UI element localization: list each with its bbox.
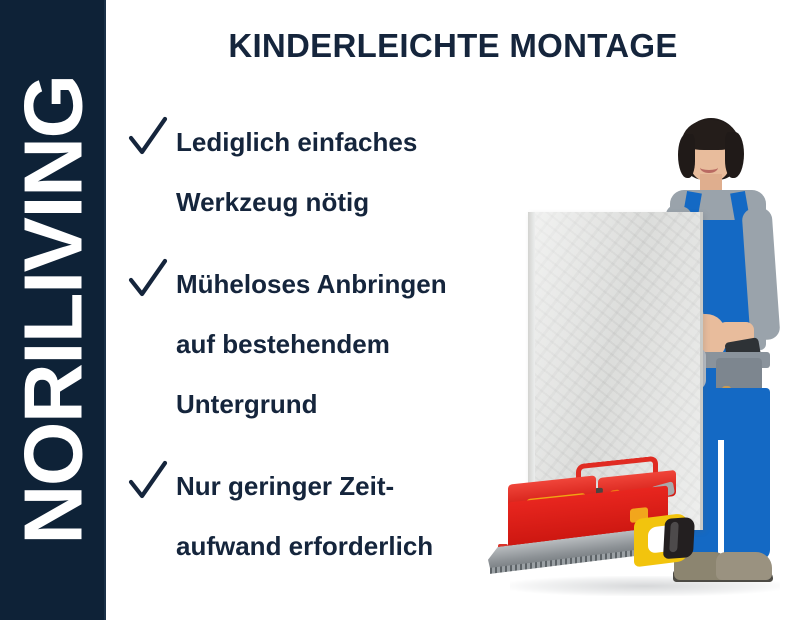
hair-side-right [725,132,744,178]
list-item: Nur geringer Zeit- aufwand erforderlich [128,456,508,576]
brand-band: NORILIVING [0,0,106,620]
brand-wordmark: NORILIVING [12,75,95,544]
saw-grip-highlight [669,522,679,553]
boot-right [716,552,772,580]
smile [700,162,718,173]
checkmark-icon [128,256,168,302]
list-item-label: Lediglich einfaches Werkzeug nötig [176,112,417,232]
promo-banner: NORILIVING KINDERLEICHTE MONTAGE Ledigli… [0,0,800,620]
trouser-gap [718,440,724,558]
checkmark-icon [128,458,168,504]
product-photo [480,100,800,620]
saw-grip [663,517,695,559]
hair-side-left [678,134,695,178]
checkmark-icon [128,114,168,160]
handsaw [488,504,708,588]
list-item-label: Nur geringer Zeit- aufwand erforderlich [176,456,433,576]
feature-list: Lediglich einfaches Werkzeug nötig Mühel… [128,112,508,576]
list-item: Müheloses Anbringen auf bestehendem Unte… [128,254,508,434]
page-title: KINDERLEICHTE MONTAGE [106,28,800,64]
list-item-label: Müheloses Anbringen auf bestehendem Unte… [176,254,447,434]
list-item: Lediglich einfaches Werkzeug nötig [128,112,508,232]
